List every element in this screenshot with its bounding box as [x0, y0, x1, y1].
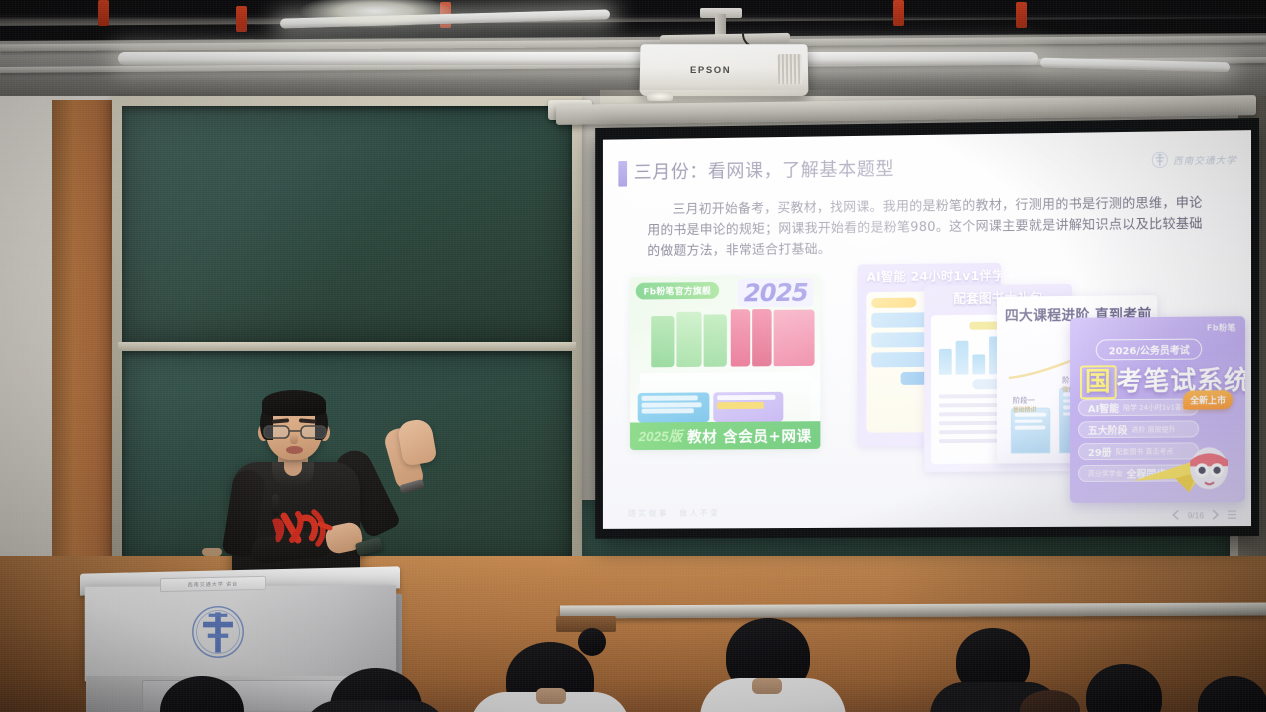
ad-feature-strong: 五大阶段 [1088, 422, 1128, 437]
menu-icon[interactable] [1227, 509, 1237, 520]
projector-brand-label: EPSON [690, 65, 731, 76]
projector-vent [778, 54, 802, 84]
chevron-right-icon[interactable] [1211, 509, 1220, 520]
slide-title-accent-bar [618, 161, 627, 187]
ad-ai-badge [871, 298, 916, 308]
audience-neck [752, 678, 782, 694]
ad-chip-row [638, 392, 784, 423]
presentation-slide: 三月份：看网课，了解基本题型 西南交通大学 三月初开始备考，买教材，找网课。我用… [603, 130, 1251, 529]
speaker-bracelet [202, 548, 222, 556]
chalkboard-divider [118, 342, 576, 351]
projector-lens [647, 92, 673, 101]
ceiling-clip-red [1016, 2, 1027, 28]
ad-promo-feature: AI智能 陪学 24小时1v1答疑 [1078, 398, 1199, 416]
slide-body-text: 三月初开始备考，买教材，找网课。我用的是粉笔的教材，行测用的书是行测的思维，申论… [647, 193, 1213, 262]
ad-chip-bonus [713, 392, 783, 422]
ad-promo-badge: 全新上市 [1183, 390, 1233, 409]
ad-bottom-banner: 2025版 教材 含会员+网课 [630, 421, 820, 450]
ceiling-beam-front [0, 0, 1266, 14]
ad-promo-mascot-icon [1132, 434, 1240, 497]
ad-feature-weak: 进阶 层层提升 [1132, 424, 1176, 434]
ad-book-stack [651, 309, 816, 372]
ad-ai-heading: AI智能 24小时1v1伴学 [858, 263, 1001, 286]
ad-feature-strong: 29册 [1088, 444, 1112, 459]
lecture-hall-photo: EPSON 三月份：看网课，了解基本题型 西南交通大学 三月初开始备考，买教材，… [0, 0, 1266, 712]
ceiling-clip-red [98, 0, 109, 26]
ad-step-sublabel: 基础精讲 [1013, 405, 1037, 414]
podium-name-plate: 西南交通大学 讲台 [160, 576, 266, 592]
ad-feature-strong: AI智能 [1088, 400, 1119, 415]
fluorescent-tube-light [118, 52, 1038, 65]
speaker-nose [290, 434, 298, 444]
ad-course-step [1011, 408, 1050, 454]
projection-screen: 三月份：看网课，了解基本题型 西南交通大学 三月初开始备考，买教材，找网课。我用… [595, 118, 1259, 539]
audience-neck [536, 688, 566, 704]
tshirt-calligraphy-graphic [268, 506, 334, 554]
speaker-mouth [286, 446, 303, 454]
ad-chat-bubble [871, 312, 932, 327]
ad-promo-brand: Fb粉笔 [1207, 322, 1236, 333]
ad-chat-bubble [871, 332, 926, 347]
ceiling-clip-red [236, 6, 247, 32]
ceiling-clip-red [893, 0, 904, 26]
audience-head-far [578, 628, 606, 656]
projector-mount-pole [715, 14, 726, 36]
slide-title: 三月份：看网课，了解基本题型 [634, 155, 894, 184]
ad-card-main-promo: Fb粉笔 2026/公务员考试 国考笔试系统班 AI智能 陪学 24小时1v1答… [1070, 316, 1245, 503]
ad-chip-contents [638, 392, 710, 422]
slide-footer-watermark: 踏实做事 做人不变 [628, 508, 720, 519]
ad-banner-text: 教材 含会员+网课 [687, 425, 812, 447]
ad-year-label: 2025 [738, 278, 814, 307]
ad-promo-exam-pill: 2026/公务员考试 [1096, 339, 1203, 361]
chalkboard-panel-upper [122, 106, 572, 342]
ad-banner-year: 2025版 [638, 426, 682, 446]
ad-brand-tag: Fb粉笔官方旗舰 [636, 282, 719, 300]
slide-page-number: 9/16 [1188, 510, 1204, 520]
slide-university-logo: 西南交通大学 [1151, 150, 1237, 168]
ad-card-textbooks: Fb粉笔官方旗舰 2025 [630, 275, 820, 450]
ad-promo-title-first: 国 [1080, 365, 1117, 399]
ad-feature-weak: 高分奖学金 [1088, 468, 1123, 478]
ad-feature-weak: 陪学 24小时1v1答疑 [1123, 402, 1189, 412]
chevron-left-icon[interactable] [1172, 509, 1181, 520]
podium-swjtu-emblem-icon [190, 604, 246, 660]
speaker-hair-top [262, 390, 326, 416]
slide-logo-text: 西南交通大学 [1173, 152, 1237, 167]
slide-pager: 9/16 [1172, 509, 1237, 520]
swjtu-emblem-icon [1151, 151, 1168, 168]
